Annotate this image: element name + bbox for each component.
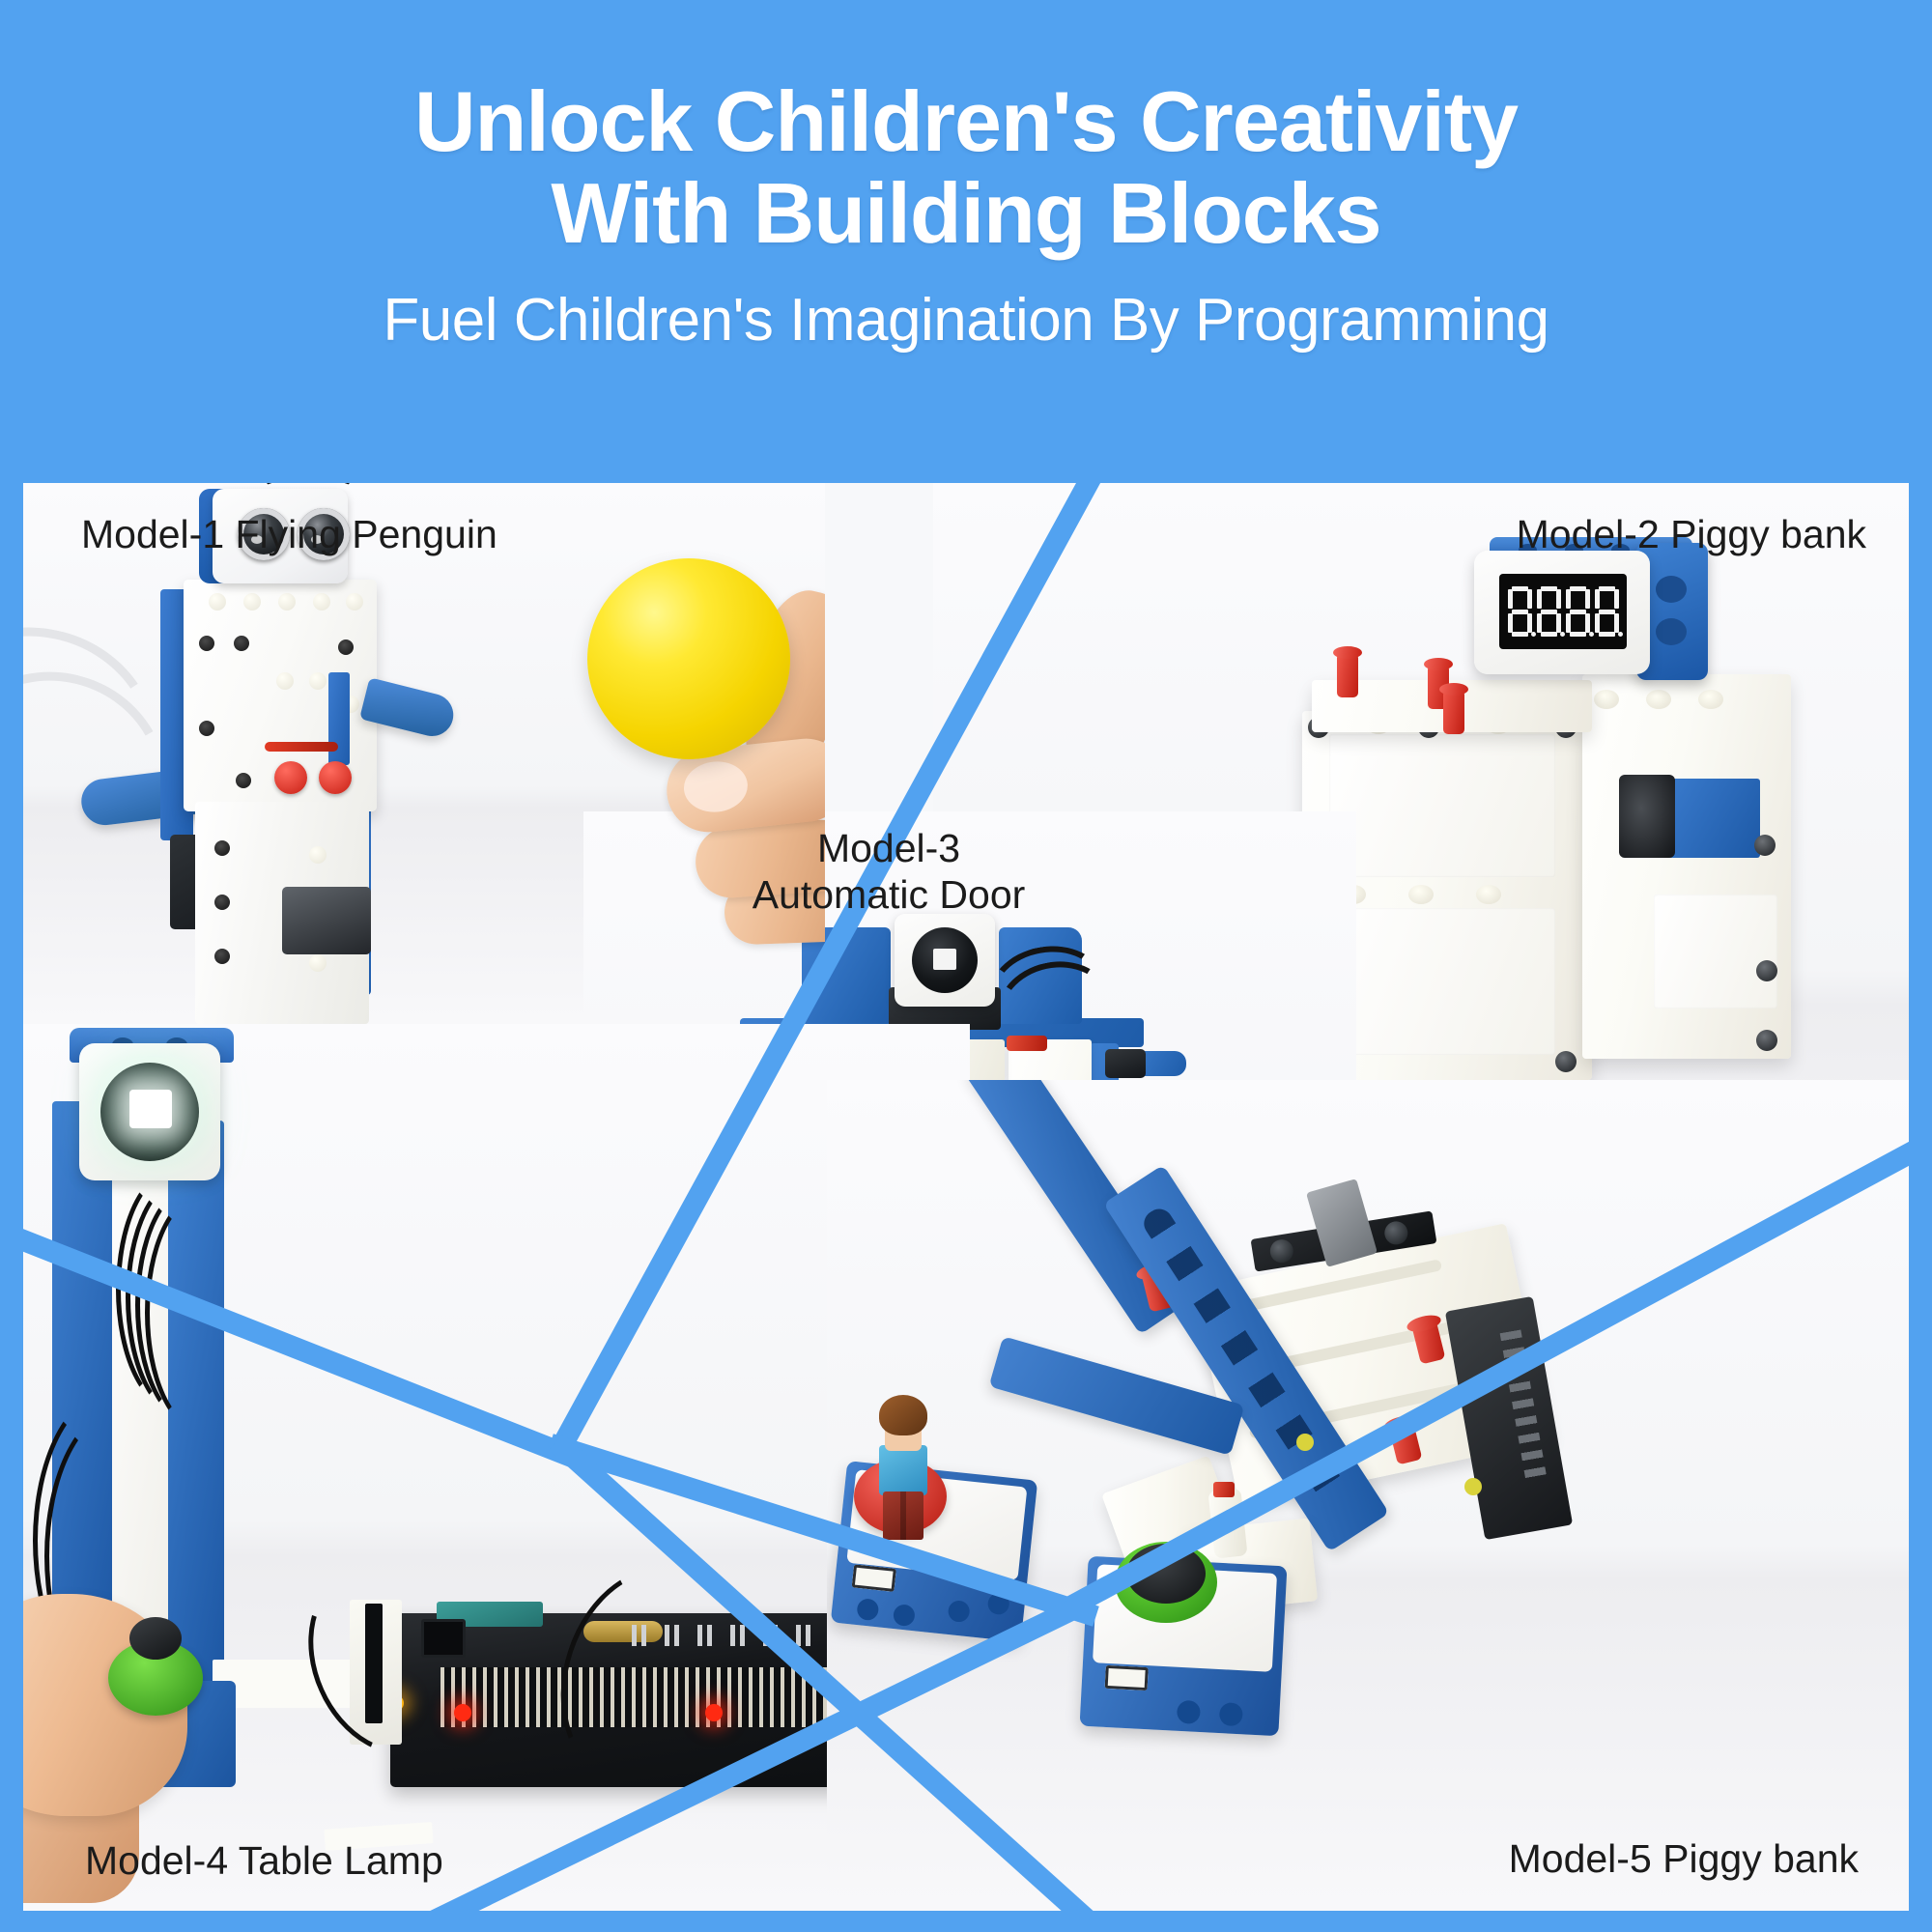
green-push-button — [1115, 1542, 1217, 1623]
model-collage: Model-1 Flying Penguin — [23, 483, 1909, 1911]
page-subtitle: Fuel Children's Imagination By Programmi… — [383, 286, 1548, 355]
header-banner: Unlock Children's Creativity With Buildi… — [0, 0, 1932, 483]
minifigure-hair — [879, 1395, 927, 1435]
label-model-3-line-1: Model-3 — [724, 825, 1053, 871]
label-model-3-line-2: Automatic Door — [724, 871, 1053, 918]
seg-digit-2 — [1537, 586, 1561, 637]
yellow-indicator — [1464, 1478, 1482, 1495]
label-model-1: Model-1 Flying Penguin — [81, 512, 497, 557]
infrared-sensor-icon — [895, 914, 995, 1007]
red-connector-pin — [1443, 690, 1464, 734]
piggy-bank-side-frame — [1582, 674, 1791, 1059]
penguin-red-button-right — [319, 761, 352, 794]
seg-digit-1 — [1508, 586, 1532, 637]
yellow-ball — [587, 558, 790, 759]
minifigure — [873, 1395, 931, 1540]
photo-model-5-piggy-bank: Model-5 Piggy bank — [827, 1080, 1909, 1911]
page-title-line-2: With Building Blocks — [414, 167, 1518, 259]
label-model-4: Model-4 Table Lamp — [85, 1838, 443, 1884]
seven-segment-screen — [1499, 574, 1627, 649]
yellow-indicator — [1296, 1434, 1314, 1451]
door-red-marker — [1007, 1036, 1047, 1051]
led-glow-icon — [129, 1090, 172, 1128]
led-lens-icon — [100, 1063, 199, 1161]
white-peg — [1207, 1488, 1247, 1558]
label-model-2: Model-2 Piggy bank — [1517, 512, 1866, 557]
page-title: Unlock Children's Creativity With Buildi… — [414, 75, 1518, 259]
black-wire-icon — [145, 1192, 261, 1434]
green-push-button — [108, 1640, 203, 1716]
red-connector-pin — [1337, 653, 1358, 697]
penguin-red-button-left — [274, 761, 307, 794]
door-arm-right-cap — [1105, 1049, 1146, 1078]
seg-digit-3 — [1566, 586, 1590, 637]
label-model-5: Model-5 Piggy bank — [1509, 1836, 1859, 1882]
penguin-motor — [282, 887, 371, 954]
label-model-3: Model-3 Automatic Door — [724, 825, 1053, 919]
seg-digit-4 — [1595, 586, 1619, 637]
red-marker — [1213, 1482, 1235, 1497]
sensor-lens-icon — [912, 927, 978, 993]
page-title-line-1: Unlock Children's Creativity — [414, 75, 1518, 167]
led-light-module — [79, 1043, 220, 1180]
